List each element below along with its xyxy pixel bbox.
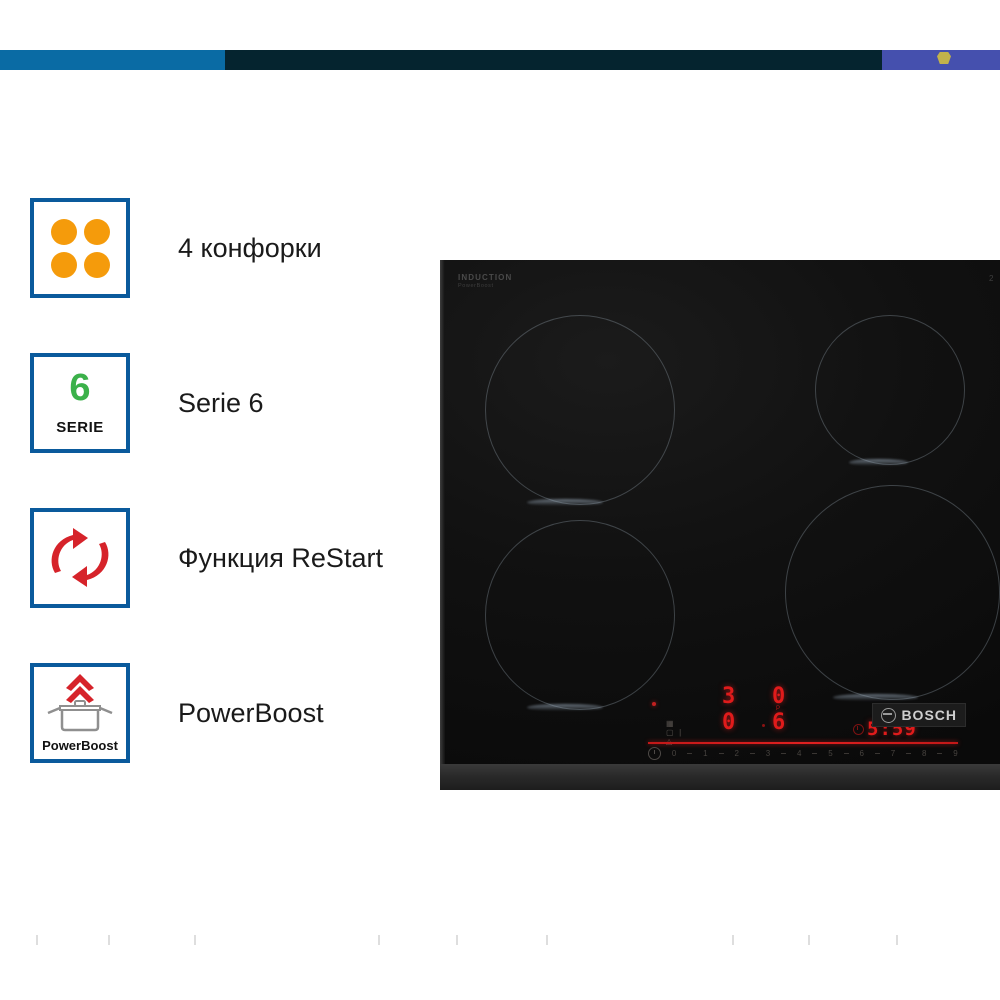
power-indicator-dot	[652, 702, 656, 706]
hexagon-badge-icon	[937, 52, 951, 64]
scale-tick	[812, 753, 817, 754]
clock-icon	[853, 724, 864, 735]
display-separator-dot	[762, 724, 765, 727]
silkscreen-sub-label: PowerBoost	[458, 283, 512, 290]
cooking-zone-top-left[interactable]	[485, 315, 675, 505]
burner-dot	[84, 252, 110, 278]
scale-tick	[844, 753, 849, 754]
footer-dash-row	[0, 935, 1000, 949]
scale-tick	[875, 753, 880, 754]
power-slider-bar[interactable]	[648, 742, 958, 744]
hob-left-bevel	[440, 260, 445, 765]
feature-item-serie: 6 SERIE Serie 6	[30, 353, 450, 453]
footer-dash	[194, 935, 196, 945]
hob-front-edge	[440, 764, 1000, 790]
four-burners-icon	[30, 198, 130, 298]
hob-control-panel[interactable]: ▦ ▢ | △ 3 0 0 6 P 5:59 0 1 2	[648, 690, 958, 755]
footer-dash	[546, 935, 548, 945]
zone-power-display: 3 0 0 6 P	[718, 684, 838, 738]
banner-segment-center-dark	[225, 50, 882, 70]
scale-tick	[781, 753, 786, 754]
feature-label-powerboost: PowerBoost	[178, 698, 324, 729]
powerboost-pot-icon: PowerBoost	[30, 663, 130, 763]
power-slider-scale[interactable]: 0 1 2 3 4 5 6 7 8 9	[648, 747, 958, 760]
serie-number: 6	[34, 369, 126, 407]
scale-tick	[937, 753, 942, 754]
feature-list: 4 конфорки 6 SERIE Serie 6 Функция ReSta…	[30, 198, 450, 818]
scale-label[interactable]: 6	[860, 749, 864, 758]
silkscreen-induction-label: INDUCTION	[458, 273, 512, 283]
burner-dot	[84, 219, 110, 245]
top-banner-strip	[0, 50, 1000, 70]
footer-dash	[732, 935, 734, 945]
powerboost-pot-icon-svg	[34, 669, 126, 741]
hob-silkscreen-text: INDUCTION PowerBoost	[458, 273, 512, 290]
scale-label[interactable]: 5	[828, 749, 832, 758]
power-button-icon[interactable]	[648, 747, 661, 760]
bosch-logo-icon: BOSCH	[872, 703, 966, 727]
footer-dash	[808, 935, 810, 945]
silkscreen-right-label: 2	[989, 274, 994, 283]
cooking-zone-bottom-right[interactable]	[785, 485, 1000, 700]
scale-label[interactable]: 8	[922, 749, 926, 758]
display-bottom-right-value: 6	[772, 710, 785, 735]
scale-label[interactable]: 1	[703, 749, 707, 758]
scale-label[interactable]: 7	[891, 749, 895, 758]
burner-dot	[51, 252, 77, 278]
scale-label[interactable]: 9	[953, 749, 957, 758]
bosch-mark-icon	[881, 708, 896, 723]
feature-label-restart: Функция ReStart	[178, 543, 383, 574]
feature-item-restart: Функция ReStart	[30, 508, 450, 608]
scale-label[interactable]: 0	[672, 749, 676, 758]
restart-loop-icon-svg	[47, 527, 113, 589]
display-top-left-value: 3	[722, 684, 735, 709]
feature-item-burners: 4 конфорки	[30, 198, 450, 298]
scale-label[interactable]: 2	[734, 749, 738, 758]
feature-label-serie: Serie 6	[178, 388, 264, 419]
burner-dot	[51, 219, 77, 245]
display-bottom-right-marker: P	[776, 706, 780, 712]
scale-label[interactable]: 3	[766, 749, 770, 758]
feature-label-burners: 4 конфорки	[178, 233, 322, 264]
footer-dash	[36, 935, 38, 945]
scale-tick	[750, 753, 755, 754]
serie-word: SERIE	[34, 419, 126, 436]
cooking-zone-bottom-left[interactable]	[485, 520, 675, 710]
feature-item-powerboost: PowerBoost PowerBoost	[30, 663, 450, 763]
banner-segment-right-violet	[882, 50, 1000, 70]
scale-tick	[687, 753, 692, 754]
footer-dash	[896, 935, 898, 945]
page-root: 4 конфорки 6 SERIE Serie 6 Функция ReSta…	[0, 0, 1000, 1000]
bosch-wordmark: BOSCH	[901, 707, 957, 723]
display-bottom-left-value: 0	[722, 710, 735, 735]
powerboost-badge-word: PowerBoost	[34, 738, 126, 753]
banner-segment-left-blue	[0, 50, 225, 70]
cooking-zone-top-right[interactable]	[815, 315, 965, 465]
product-image-induction-hob: INDUCTION PowerBoost 2 ▦ ▢ | △ 3 0 0 6 P	[440, 260, 1000, 790]
footer-dash	[456, 935, 458, 945]
footer-dash	[378, 935, 380, 945]
scale-label[interactable]: 4	[797, 749, 801, 758]
footer-dash	[108, 935, 110, 945]
scale-tick	[719, 753, 724, 754]
scale-tick	[906, 753, 911, 754]
restart-loop-icon	[30, 508, 130, 608]
serie-6-icon: 6 SERIE	[30, 353, 130, 453]
